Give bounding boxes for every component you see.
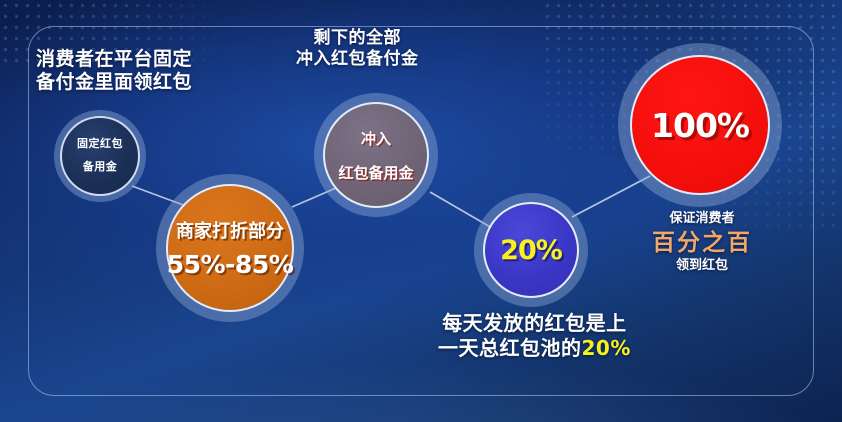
caption-bottom-line2: 一天总红包池的20% <box>438 336 631 361</box>
caption-bottom: 每天发放的红包是上 一天总红包池的20% <box>438 312 631 362</box>
node-inner-ring-fixed <box>60 116 140 196</box>
node-inner-ring-pool <box>323 102 429 208</box>
caption-top-line2: 冲入红包备付金 <box>296 49 419 70</box>
link-twenty-to-hundred <box>572 176 650 217</box>
node-inner-ring-discount <box>166 184 294 312</box>
node-inner-ring-hundred <box>630 55 770 195</box>
caption-right-line3: 领到红包 <box>640 257 764 273</box>
caption-right-line1: 保证消费者 <box>640 210 764 226</box>
caption-top: 剩下的全部 冲入红包备付金 <box>296 28 419 69</box>
caption-top-line1: 剩下的全部 <box>296 28 419 49</box>
caption-bottom-highlight: 20% <box>582 336 631 360</box>
caption-bottom-line2-prefix: 一天总红包池的 <box>438 338 582 360</box>
caption-bottom-line1: 每天发放的红包是上 <box>438 312 631 336</box>
caption-right-line2: 百分之百 <box>640 228 764 256</box>
caption-left: 消费者在平台固定 备付金里面领红包 <box>36 48 192 94</box>
node-inner-ring-twenty <box>483 202 579 298</box>
caption-left-line2: 备付金里面领红包 <box>36 71 192 94</box>
bottom-glow-sweep <box>0 322 842 422</box>
infographic-canvas: 固定红包 备用金 商家打折部分 55%-85% 冲入 红包备用金 20% 100… <box>0 0 842 422</box>
caption-right: 保证消费者 百分之百 领到红包 <box>640 210 764 273</box>
caption-left-line1: 消费者在平台固定 <box>36 48 192 71</box>
